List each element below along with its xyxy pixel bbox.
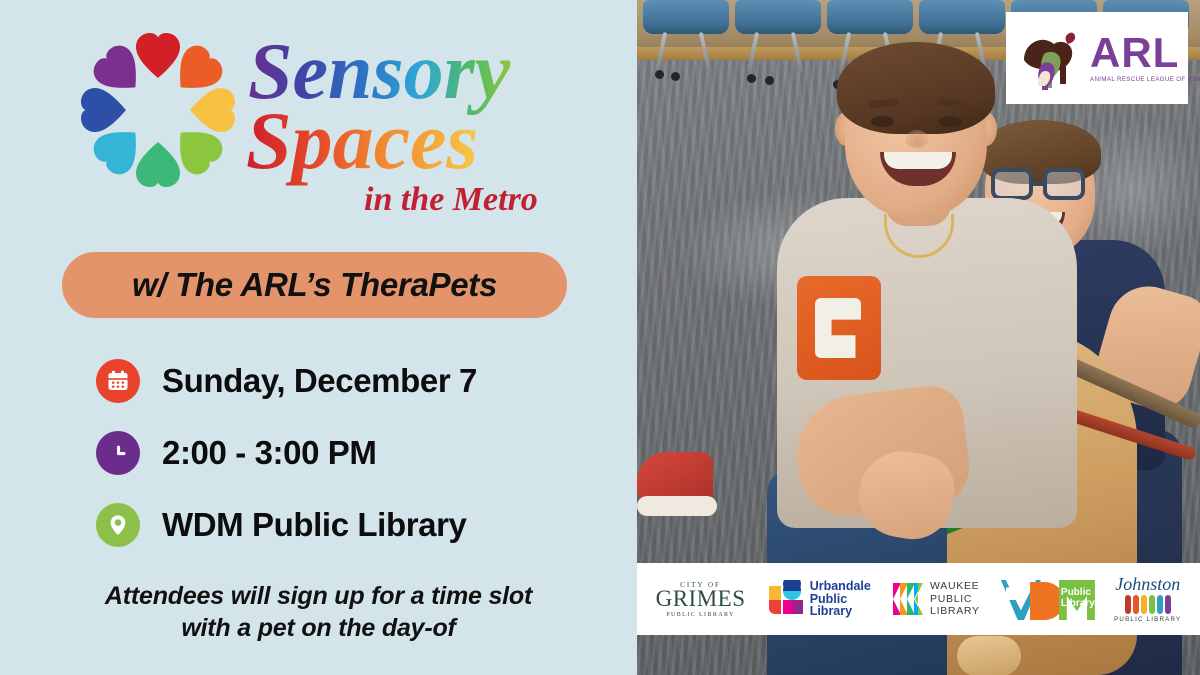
event-photo: THERAPETS <box>637 0 1200 675</box>
grimes-name-label: GRIMES <box>656 587 746 610</box>
chair <box>735 0 821 34</box>
event-detail-time: 2:00 - 3:00 PM <box>96 417 576 489</box>
urbandale-line-1: Urbandale <box>810 580 871 593</box>
chair <box>643 0 729 34</box>
wdm-letter-d <box>1030 582 1064 620</box>
flyer-canvas: Sensory Spaces in the Metro w/ The ARL’s… <box>0 0 1200 675</box>
waukee-line-3: LIBRARY <box>930 605 980 617</box>
chair-caster <box>747 74 756 83</box>
johnston-bar <box>1125 595 1131 614</box>
chair-caster <box>671 72 680 81</box>
johnston-bars-icon <box>1125 595 1171 614</box>
event-time-text: 2:00 - 3:00 PM <box>162 434 377 472</box>
wdm-text-block: Public Library <box>1061 587 1095 609</box>
johnston-sub-label: PUBLIC LIBRARY <box>1114 616 1181 623</box>
arl-text-block: ARL ANIMAL RESCUE LEAGUE OF IOWA, INC. <box>1090 33 1200 83</box>
photo-scene: THERAPETS <box>637 0 1200 675</box>
johnston-bar <box>1149 595 1155 614</box>
subtitle-banner: w/ The ARL’s TheraPets <box>62 252 567 318</box>
subtitle-banner-text: w/ The ARL’s TheraPets <box>132 266 497 304</box>
dog-paw <box>957 636 1021 675</box>
arl-acronym: ARL <box>1090 33 1179 73</box>
waukee-text-block: WAUKEE PUBLIC LIBRARY <box>930 580 980 617</box>
event-date-text: Sunday, December 7 <box>162 362 477 400</box>
urbandale-text-block: Urbandale Public Library <box>810 580 871 618</box>
chair-caster <box>765 76 774 85</box>
grimes-sub-label: PUBLIC LIBRARY <box>666 612 734 618</box>
signup-note-line-2: with a pet on the day-of <box>0 612 637 644</box>
wdm-fan-accent <box>1006 580 1028 600</box>
glasses-icon <box>991 168 1033 200</box>
johnston-bar <box>1141 595 1147 614</box>
partner-logo-wdm: Public Library <box>1001 578 1093 620</box>
partner-logo-urbandale: Urbandale Public Library <box>767 580 871 618</box>
johnston-bar <box>1133 595 1139 614</box>
bird-icon <box>1066 33 1076 44</box>
location-pin-icon <box>96 503 140 547</box>
signup-note-line-1: Attendees will sign up for a time slot <box>0 580 637 612</box>
child-left-eye <box>939 116 962 127</box>
chair <box>919 0 1005 34</box>
child-left-nose <box>905 130 929 148</box>
wdm-mark-icon: Public Library <box>1001 578 1093 620</box>
child-left-hair <box>837 42 995 134</box>
rainbow-heart-wheel-logo <box>78 30 238 190</box>
clock-icon <box>96 431 140 475</box>
event-detail-location: WDM Public Library <box>96 489 576 561</box>
event-details-list: Sunday, December 7 2:00 - 3:00 PM <box>96 345 576 561</box>
child-left-shirt-graphic <box>797 276 881 380</box>
signup-note: Attendees will sign up for a time slot w… <box>0 580 637 644</box>
calendar-icon <box>96 359 140 403</box>
shirt-graphic-mark <box>815 298 861 358</box>
child-left-eye <box>871 116 894 127</box>
waukee-line-1: WAUKEE <box>930 580 980 592</box>
wdm-line-1: Public <box>1061 587 1095 598</box>
chair <box>827 0 913 34</box>
waukee-mark-icon <box>892 581 924 617</box>
arl-logo: ARL ANIMAL RESCUE LEAGUE OF IOWA, INC. <box>1006 12 1188 104</box>
event-detail-date: Sunday, December 7 <box>96 345 576 417</box>
wordmark-line-spaces: Spaces <box>246 95 478 186</box>
partner-logo-johnston: Johnston PUBLIC LIBRARY <box>1114 575 1181 623</box>
wordmark-line-in-the-metro: in the Metro <box>364 181 538 218</box>
urbandale-mark-icon <box>767 580 805 618</box>
johnston-bar <box>1165 595 1171 614</box>
chair-caster <box>655 70 664 79</box>
glasses-bridge <box>1031 182 1047 186</box>
wdm-line-2: Library <box>1061 598 1095 609</box>
sensory-spaces-logo-lockup: Sensory Spaces in the Metro <box>78 24 558 219</box>
waukee-line-2: PUBLIC <box>930 593 980 605</box>
left-info-panel: Sensory Spaces in the Metro w/ The ARL’s… <box>0 0 637 675</box>
sensory-spaces-wordmark: Sensory Spaces in the Metro <box>246 18 556 218</box>
glasses-icon <box>1043 168 1085 200</box>
johnston-bar <box>1157 595 1163 614</box>
arl-animals-icon <box>1014 20 1090 96</box>
event-location-text: WDM Public Library <box>162 506 467 544</box>
child-left-teeth <box>884 152 952 169</box>
partner-logo-grimes: CITY OF GRIMES PUBLIC LIBRARY <box>656 581 746 618</box>
johnston-script-label: Johnston <box>1115 575 1180 593</box>
partner-logos-strip: CITY OF GRIMES PUBLIC LIBRARY <box>637 563 1200 635</box>
child-left-shoe-sole <box>637 496 717 516</box>
arl-full-name: ANIMAL RESCUE LEAGUE OF IOWA, INC. <box>1090 76 1200 83</box>
urbandale-line-3: Library <box>810 605 871 618</box>
partner-logo-waukee: WAUKEE PUBLIC LIBRARY <box>892 580 980 617</box>
